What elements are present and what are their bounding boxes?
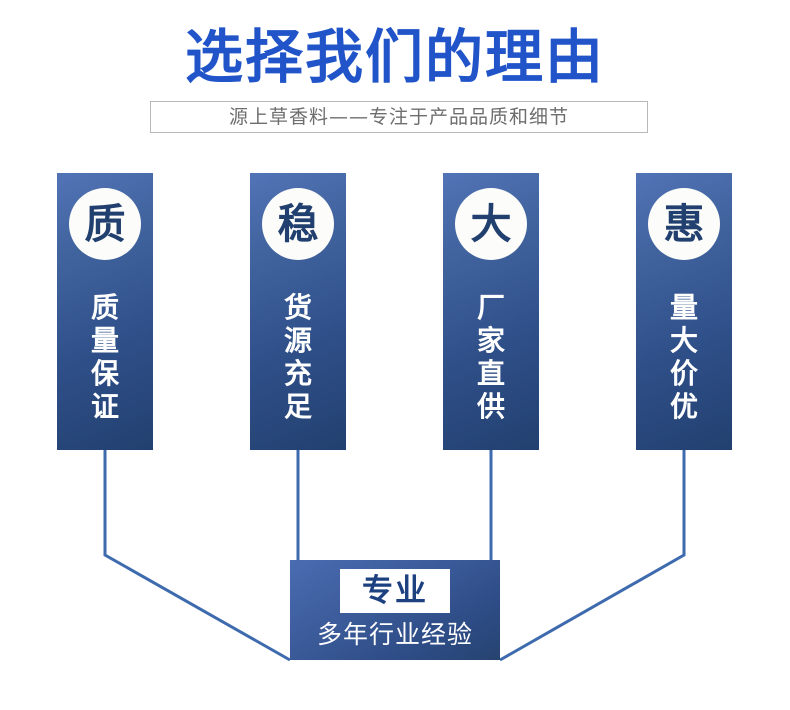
subtitle-box: 源上草香料——专注于产品品质和细节: [150, 101, 648, 133]
page-title: 选择我们的理由: [0, 22, 790, 92]
feature-card-label: 货 源 充 足: [250, 291, 346, 423]
connector-card-4: [500, 450, 684, 660]
vtext-char: 厂: [443, 291, 539, 324]
badge-char: 大: [471, 204, 512, 245]
summary-box[interactable]: 专业 多年行业经验: [290, 560, 500, 660]
feature-card-price[interactable]: 惠 量 大 价 优: [636, 173, 732, 450]
vtext-char: 保: [57, 357, 153, 390]
vtext-char: 供: [443, 390, 539, 423]
feature-card-quality[interactable]: 质 质 量 保 证: [57, 173, 153, 450]
vtext-char: 源: [250, 324, 346, 357]
vtext-char: 证: [57, 390, 153, 423]
badge-char: 惠: [664, 204, 705, 245]
vtext-char: 充: [250, 357, 346, 390]
badge-char: 稳: [278, 204, 319, 245]
vtext-char: 大: [636, 324, 732, 357]
badge-char: 质: [85, 204, 126, 245]
summary-subtext: 多年行业经验: [290, 620, 500, 650]
summary-headline: 专业: [362, 576, 428, 607]
summary-headline-box: 专业: [340, 569, 450, 613]
feature-card-supply[interactable]: 稳 货 源 充 足: [250, 173, 346, 450]
subtitle-text: 源上草香料——专注于产品品质和细节: [229, 108, 569, 127]
badge-circle-icon: 质: [69, 188, 141, 260]
badge-circle-icon: 惠: [648, 188, 720, 260]
vtext-char: 直: [443, 357, 539, 390]
badge-circle-icon: 稳: [262, 188, 334, 260]
feature-card-label: 厂 家 直 供: [443, 291, 539, 423]
vtext-char: 质: [57, 291, 153, 324]
vtext-char: 优: [636, 390, 732, 423]
vtext-char: 家: [443, 324, 539, 357]
feature-card-label: 量 大 价 优: [636, 291, 732, 423]
vtext-char: 足: [250, 390, 346, 423]
vtext-char: 量: [636, 291, 732, 324]
feature-card-factory[interactable]: 大 厂 家 直 供: [443, 173, 539, 450]
vtext-char: 货: [250, 291, 346, 324]
badge-circle-icon: 大: [455, 188, 527, 260]
feature-card-label: 质 量 保 证: [57, 291, 153, 423]
connector-card-1: [105, 450, 290, 660]
vtext-char: 价: [636, 357, 732, 390]
vtext-char: 量: [57, 324, 153, 357]
poster-canvas: 选择我们的理由 源上草香料——专注于产品品质和细节 质 质 量 保 证 稳 货: [0, 0, 790, 710]
